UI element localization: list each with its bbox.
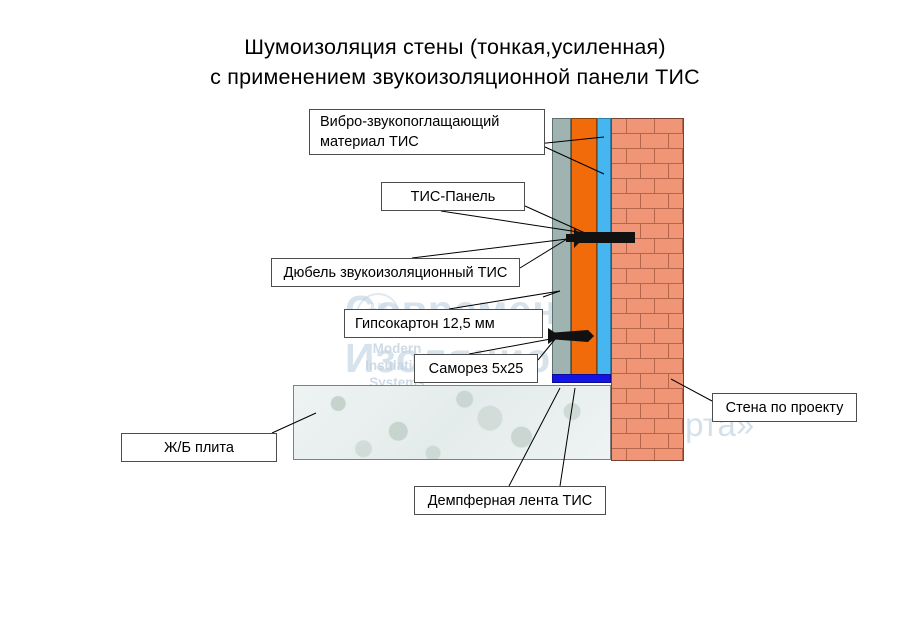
callout-screw[interactable]: Саморез 5x25 <box>414 354 538 383</box>
callout-tis-panel-label: ТИС-Панель <box>401 187 506 207</box>
callout-concrete-slab[interactable]: Ж/Б плита <box>121 433 277 462</box>
diagram-canvas: Шумоизоляция стены (тонкая,усиленная) с … <box>0 0 910 644</box>
callout-gypsum-board-label: Гипсокартон 12,5 мм <box>345 314 505 334</box>
callout-acoustic-dowel[interactable]: Дюбель звукоизоляционный ТИС <box>271 258 520 287</box>
callout-damper-tape[interactable]: Демпферная лента ТИС <box>414 486 606 515</box>
title-line-2: с применением звукоизоляционной панели Т… <box>0 62 910 92</box>
layer-concrete-slab <box>293 385 611 460</box>
callout-screw-label: Саморез 5x25 <box>419 359 534 379</box>
callout-concrete-slab-label: Ж/Б плита <box>154 438 244 458</box>
callout-vibro-material-label: Вибро-звукопоглащающий материал ТИС <box>310 112 509 152</box>
layer-vibro-absorbing <box>597 118 611 380</box>
layer-tis-panel <box>571 118 597 380</box>
layer-damper-tape <box>552 374 611 383</box>
callout-gypsum-board[interactable]: Гипсокартон 12,5 мм <box>344 309 543 338</box>
callout-project-wall[interactable]: Стена по проекту <box>712 393 857 422</box>
layer-gypsum-board <box>552 118 571 380</box>
title-line-1: Шумоизоляция стены (тонкая,усиленная) <box>0 32 910 62</box>
callout-project-wall-label: Стена по проекту <box>716 398 854 418</box>
callout-damper-tape-label: Демпферная лента ТИС <box>418 491 603 511</box>
callout-acoustic-dowel-label: Дюбель звукоизоляционный ТИС <box>274 263 518 283</box>
layer-brick-wall <box>611 118 684 461</box>
page-title: Шумоизоляция стены (тонкая,усиленная) с … <box>0 32 910 92</box>
callout-vibro-material[interactable]: Вибро-звукопоглащающий материал ТИС <box>309 109 545 155</box>
callout-tis-panel[interactable]: ТИС-Панель <box>381 182 525 211</box>
